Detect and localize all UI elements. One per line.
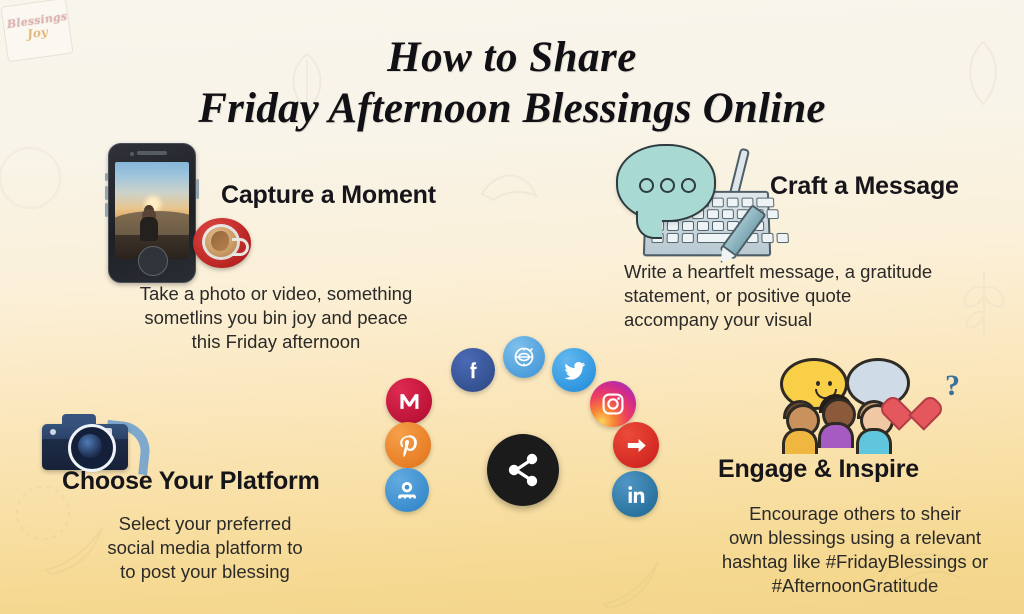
body-line: statement, or positive quote (624, 284, 984, 308)
body-line: sometlins you bin joy and peace (125, 306, 427, 330)
heading-craft-a-message: Craft a Message (770, 172, 959, 201)
coffee-cup-icon (193, 214, 251, 270)
people-group-icon: ? (768, 356, 918, 456)
speech-bubble-icon (616, 144, 716, 222)
body-line: Write a heartfelt message, a gratitude (624, 260, 984, 284)
infographic-canvas: Blessings Joy How to Share Friday Aftern… (0, 0, 1024, 614)
person-figure (818, 398, 858, 456)
question-mark-icon: ? (945, 369, 960, 403)
medium-m-icon[interactable] (386, 378, 432, 424)
circle-watermark (0, 140, 68, 216)
phone-button (196, 179, 199, 199)
pinterest-icon[interactable] (385, 422, 431, 468)
leaf-watermark (600, 552, 670, 612)
typing-dot (681, 178, 696, 193)
camera-lens (68, 424, 116, 472)
phone-home-button (138, 246, 168, 276)
body-line: Take a photo or video, something (125, 282, 427, 306)
heart-icon (896, 392, 928, 422)
phone-speaker (137, 151, 167, 155)
share-arrow-icon[interactable] (613, 422, 659, 468)
messenger-icon[interactable] (503, 336, 545, 378)
title-line-2: Friday Afternoon Blessings Online (0, 86, 1024, 132)
typing-dot (660, 178, 675, 193)
body-line: accompany your visual (624, 308, 984, 332)
share-node-icon[interactable] (487, 434, 559, 506)
body-capture-a-moment: Take a photo or video, something sometli… (125, 282, 427, 354)
body-choose-your-platform: Select your preferred social media platf… (60, 512, 350, 584)
facebook-icon[interactable] (451, 348, 495, 392)
phone-button (105, 173, 108, 181)
body-line: #AfternoonGratitude (700, 574, 1010, 598)
body-line: Select your preferred (60, 512, 350, 536)
person-figure (782, 404, 818, 456)
phone-button (105, 203, 108, 217)
page-title: How to Share Friday Afternoon Blessings … (0, 35, 1024, 131)
body-engage-and-inspire: Encourage others to sheir own blessings … (700, 502, 1010, 598)
person-silhouette (139, 205, 159, 241)
heading-engage-and-inspire: Engage & Inspire (718, 455, 919, 484)
body-craft-a-message: Write a heartfelt message, a gratitude s… (624, 260, 984, 332)
body-line: social media platform to (60, 536, 350, 560)
heading-capture-a-moment: Capture a Moment (221, 181, 436, 210)
body-line: this Friday afternoon (125, 330, 427, 354)
twitter-icon[interactable] (552, 348, 596, 392)
phone-button (105, 186, 108, 200)
body-line: to post your blessing (60, 560, 350, 584)
webcam-icon[interactable] (385, 468, 429, 512)
latte-art (211, 231, 229, 251)
heading-choose-your-platform: Choose Your Platform (62, 467, 320, 496)
phone-screen (115, 162, 189, 259)
keyboard-icon (616, 144, 781, 260)
camera-indicator (50, 429, 56, 435)
title-line-1: How to Share (0, 35, 1024, 81)
instagram-icon[interactable] (590, 381, 636, 427)
phone-front-camera-icon (130, 152, 134, 156)
body-line: own blessings using a relevant (700, 526, 1010, 550)
typing-dot (639, 178, 654, 193)
bubble-tail (636, 211, 662, 239)
bird-watermark (478, 168, 538, 208)
smartphone-icon (108, 143, 196, 283)
body-line: hashtag like #FridayBlessings or (700, 550, 1010, 574)
linkedin-icon[interactable] (612, 471, 658, 517)
body-line: Encourage others to sheir (700, 502, 1010, 526)
